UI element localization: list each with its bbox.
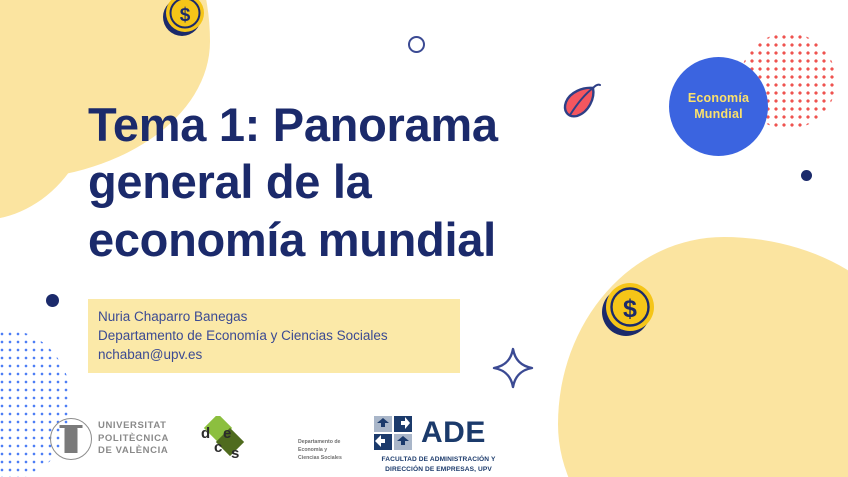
author-department: Departamento de Economía y Ciencias Soci… (98, 326, 450, 345)
author-name: Nuria Chaparro Banegas (98, 307, 450, 326)
coin-symbol-bottom: $ (623, 295, 637, 323)
ade-sub-line-1: FACULTAD DE ADMINISTRACIÓN Y (372, 455, 505, 465)
upv-logo-text: UNIVERSITAT POLITÈCNICA DE VALÈNCIA (98, 420, 169, 458)
ade-word: ADE (421, 418, 486, 448)
upv-seal-icon (50, 418, 92, 460)
decs-letter-c: c (214, 439, 222, 456)
badge-line-2: Mundial (694, 107, 743, 123)
department-line-2: Economía y (298, 446, 360, 454)
department-line-3: Ciencias Sociales (298, 454, 360, 462)
puzzle-arrows-icon (372, 414, 414, 452)
navy-dot-right-icon (801, 170, 812, 181)
sparkle-icon (490, 345, 536, 396)
title-line-1: Tema 1: Panorama (88, 96, 608, 153)
author-email: nchaban@upv.es (98, 345, 450, 364)
navy-dot-left-icon (46, 294, 59, 307)
title-line-2: general de la (88, 153, 608, 210)
coin-icon-top: $ (160, 0, 208, 44)
upv-logo: UNIVERSITAT POLITÈCNICA DE VALÈNCIA (50, 418, 169, 460)
title-line-3: economía mundial (88, 211, 608, 268)
page-title: Tema 1: Panorama general de la economía … (88, 96, 608, 268)
course-badge: Economía Mundial (669, 57, 768, 156)
decs-logo: d e c s (194, 416, 250, 464)
department-line-1: Departamento de (298, 438, 360, 446)
ade-logo-top: ADE (372, 414, 512, 452)
badge-line-1: Economía (688, 91, 749, 107)
presentation-slide: Economía Mundial $ $ (0, 0, 848, 477)
upv-line-2: POLITÈCNICA (98, 433, 169, 446)
upv-line-3: DE VALÈNCIA (98, 445, 169, 458)
coin-symbol-top: $ (180, 5, 191, 26)
decs-letter-d: d (201, 425, 210, 442)
decs-letter-e: e (223, 425, 231, 442)
ade-sub-line-2: DIRECCIÓN DE EMPRESAS, UPV (372, 465, 505, 475)
author-block: Nuria Chaparro Banegas Departamento de E… (88, 299, 460, 373)
upv-line-1: UNIVERSITAT (98, 420, 169, 433)
department-logo-text: Departamento de Economía y Ciencias Soci… (298, 438, 360, 462)
decs-letter-s: s (231, 445, 239, 462)
coin-icon-bottom: $ (598, 278, 660, 345)
yellow-blob-top-left-secondary (0, 0, 100, 220)
ade-logo: ADE FACULTAD DE ADMINISTRACIÓN Y DIRECCI… (372, 414, 512, 475)
circle-outline-icon (408, 36, 425, 53)
logo-row: UNIVERSITAT POLITÈCNICA DE VALÈNCIA d e … (50, 410, 470, 472)
ade-subtitle: FACULTAD DE ADMINISTRACIÓN Y DIRECCIÓN D… (372, 455, 505, 475)
